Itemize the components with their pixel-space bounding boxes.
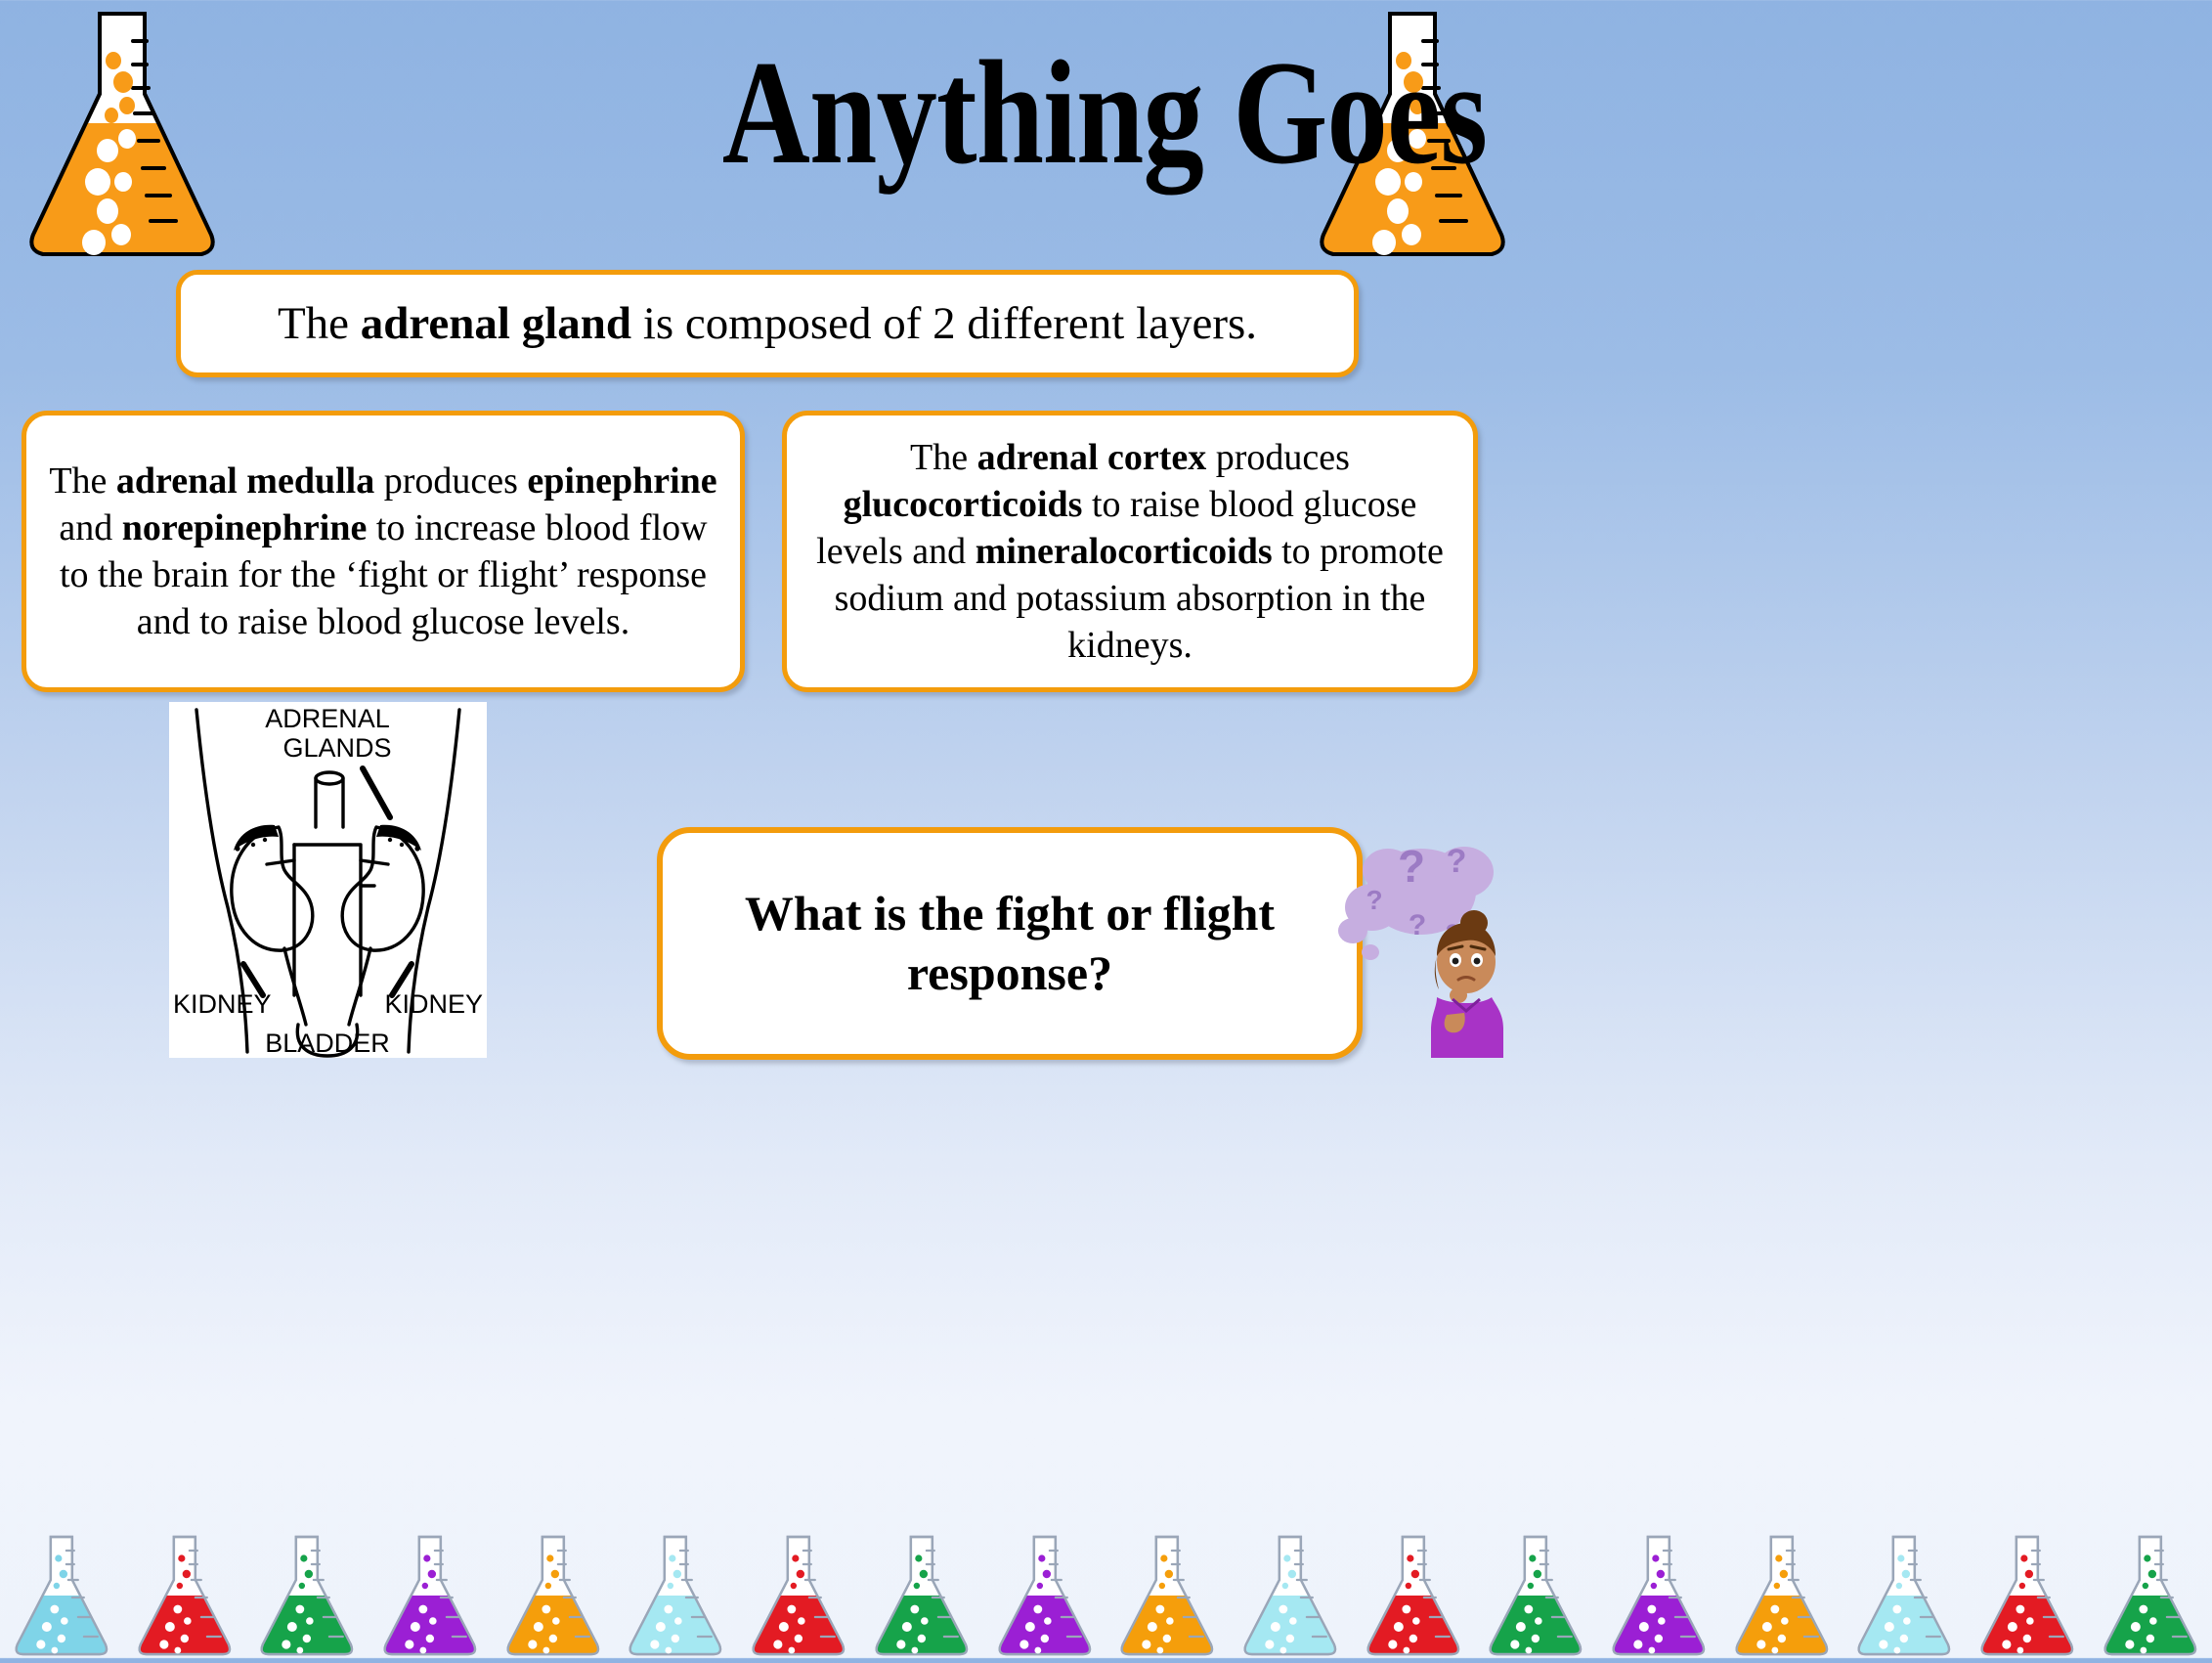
statement-prefix: The bbox=[278, 298, 361, 349]
adrenal-medulla-box: The adrenal medulla produces epinephrine… bbox=[22, 411, 745, 692]
mini-flask-icon bbox=[1106, 1531, 1229, 1658]
medulla-seg3: and bbox=[59, 507, 121, 548]
mini-flask-icon bbox=[614, 1531, 737, 1658]
question-line-1: What is the fight or flight bbox=[745, 886, 1275, 941]
mini-flask-icon bbox=[1474, 1531, 1597, 1658]
statement-bold: adrenal gland bbox=[361, 298, 631, 349]
statement-suffix: is composed of 2 different layers. bbox=[631, 298, 1257, 349]
cortex-bold-2: glucocorticoids bbox=[844, 484, 1083, 525]
kidney-anatomy-diagram: ADRENAL GLANDS KIDNEY KIDNEY BLADDER bbox=[169, 702, 487, 1058]
mini-flask-icon bbox=[369, 1531, 492, 1658]
mini-flask-icon bbox=[1720, 1531, 1843, 1658]
question-box: What is the fight or flight response? bbox=[657, 827, 1363, 1060]
mini-flask-icon bbox=[860, 1531, 983, 1658]
cortex-seg2: produces bbox=[1206, 437, 1350, 478]
diagram-label-adrenal-line2: GLANDS bbox=[282, 733, 391, 763]
svg-text:?: ? bbox=[1398, 841, 1425, 892]
mini-flask-icon bbox=[2089, 1531, 2212, 1658]
cortex-bold-3: mineralocorticoids bbox=[976, 531, 1273, 572]
mini-flask-icon bbox=[1352, 1531, 1475, 1658]
statement-box: The adrenal gland is composed of 2 diffe… bbox=[176, 270, 1359, 377]
slide-canvas: Anything Goes Adrenal Gland! The adrenal… bbox=[0, 0, 2212, 1658]
mini-flask-icon bbox=[245, 1531, 369, 1658]
medulla-bold-2: epinephrine bbox=[527, 460, 716, 502]
cortex-seg1: The bbox=[910, 437, 977, 478]
mini-flask-icon bbox=[492, 1531, 615, 1658]
medulla-seg1: The bbox=[49, 460, 116, 502]
cortex-text: The adrenal cortex produces glucocortico… bbox=[787, 434, 1473, 669]
diagram-label-kidney-left: KIDNEY bbox=[173, 989, 272, 1019]
medulla-seg2: produces bbox=[374, 460, 527, 502]
erlenmeyer-flask-icon-left bbox=[10, 4, 235, 266]
mini-flask-icon bbox=[0, 1531, 123, 1658]
question-text: What is the fight or flight response? bbox=[716, 884, 1304, 1003]
diagram-label-kidney-right: KIDNEY bbox=[384, 989, 483, 1019]
medulla-bold-1: adrenal medulla bbox=[116, 460, 374, 502]
svg-text:?: ? bbox=[1366, 885, 1382, 915]
medulla-text: The adrenal medulla produces epinephrine… bbox=[26, 458, 740, 645]
svg-text:?: ? bbox=[1447, 843, 1467, 880]
medulla-bold-3: norepinephrine bbox=[122, 507, 368, 548]
page-title: Anything Goes bbox=[584, 37, 1626, 189]
svg-text:?: ? bbox=[1409, 909, 1426, 941]
adrenal-cortex-box: The adrenal cortex produces glucocortico… bbox=[782, 411, 1478, 692]
mini-flask-icon bbox=[983, 1531, 1106, 1658]
diagram-label-adrenal-line1: ADRENAL bbox=[265, 704, 390, 733]
cortex-bold-1: adrenal cortex bbox=[977, 437, 1207, 478]
mini-flask-icon bbox=[1597, 1531, 1720, 1658]
mini-flask-icon bbox=[1843, 1531, 1966, 1658]
question-line-2: response? bbox=[907, 945, 1112, 1000]
mini-flask-icon bbox=[1229, 1531, 1352, 1658]
statement-text: The adrenal gland is composed of 2 diffe… bbox=[256, 297, 1279, 350]
diagram-label-bladder: BLADDER bbox=[265, 1028, 390, 1058]
thinking-girl-icon: ? ? ? ? ? bbox=[1327, 833, 1523, 1058]
mini-flask-icon bbox=[1966, 1531, 2089, 1658]
bottom-flask-border bbox=[0, 1531, 2212, 1658]
mini-flask-icon bbox=[737, 1531, 860, 1658]
mini-flask-icon bbox=[123, 1531, 246, 1658]
